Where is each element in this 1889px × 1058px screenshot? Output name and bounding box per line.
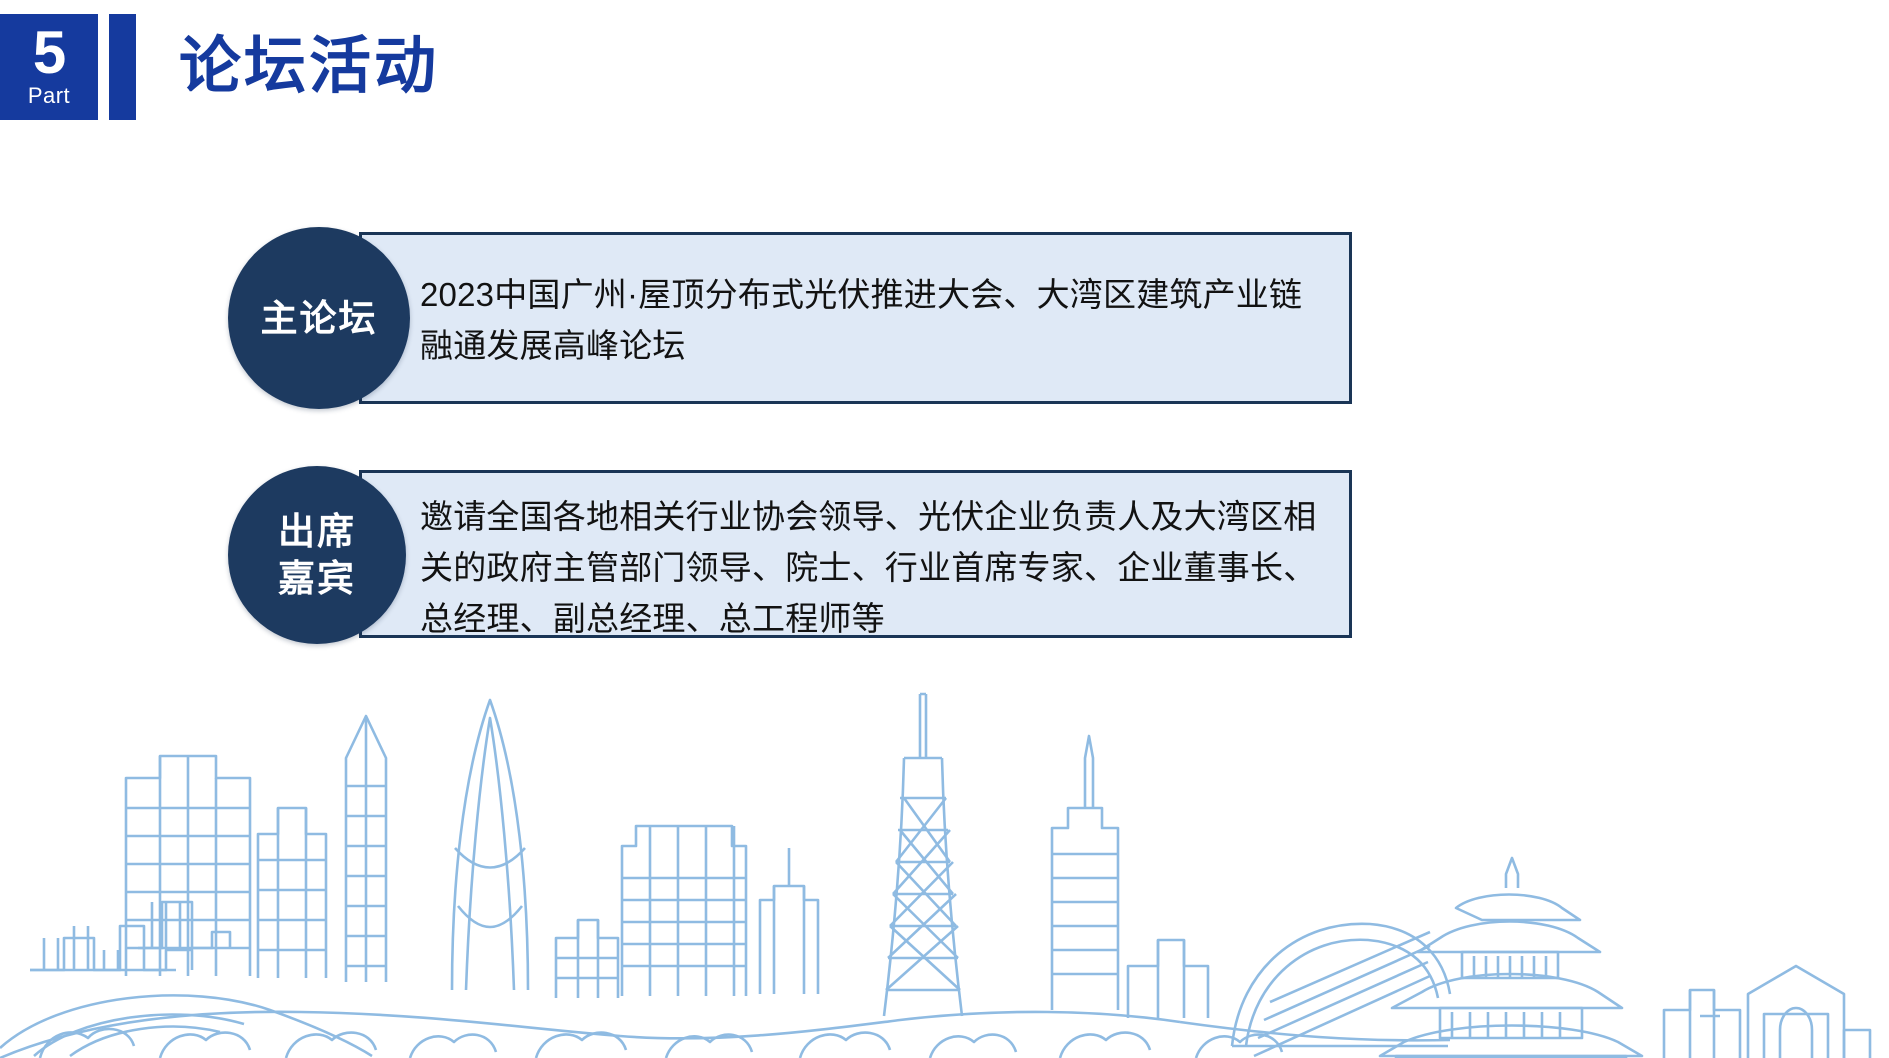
part-number: 5 bbox=[33, 23, 65, 83]
attending-guests-bubble-label: 出席 嘉宾 bbox=[228, 466, 406, 644]
header-accent-bar bbox=[109, 14, 136, 120]
part-label: Part bbox=[28, 85, 70, 107]
slide-canvas: 5 Part 论坛活动 bbox=[0, 0, 1889, 1058]
main-forum-bubble-label: 主论坛 bbox=[228, 227, 410, 409]
slide-header: 5 Part 论坛活动 bbox=[0, 14, 439, 120]
attending-guests-text: 邀请全国各地相关行业协会领导、光伏企业负责人及大湾区相关的政府主管部门领导、院士… bbox=[420, 491, 1330, 644]
guangzhou-skyline-icon bbox=[0, 638, 1889, 1058]
main-forum-text: 2023中国广州·屋顶分布式光伏推进大会、大湾区建筑产业链融通发展高峰论坛 bbox=[420, 269, 1325, 371]
page-title: 论坛活动 bbox=[179, 14, 439, 120]
main-forum-panel: 2023中国广州·屋顶分布式光伏推进大会、大湾区建筑产业链融通发展高峰论坛 bbox=[359, 232, 1352, 404]
attending-guests-panel: 邀请全国各地相关行业协会领导、光伏企业负责人及大湾区相关的政府主管部门领导、院士… bbox=[359, 470, 1352, 638]
part-number-badge: 5 Part bbox=[0, 14, 98, 120]
